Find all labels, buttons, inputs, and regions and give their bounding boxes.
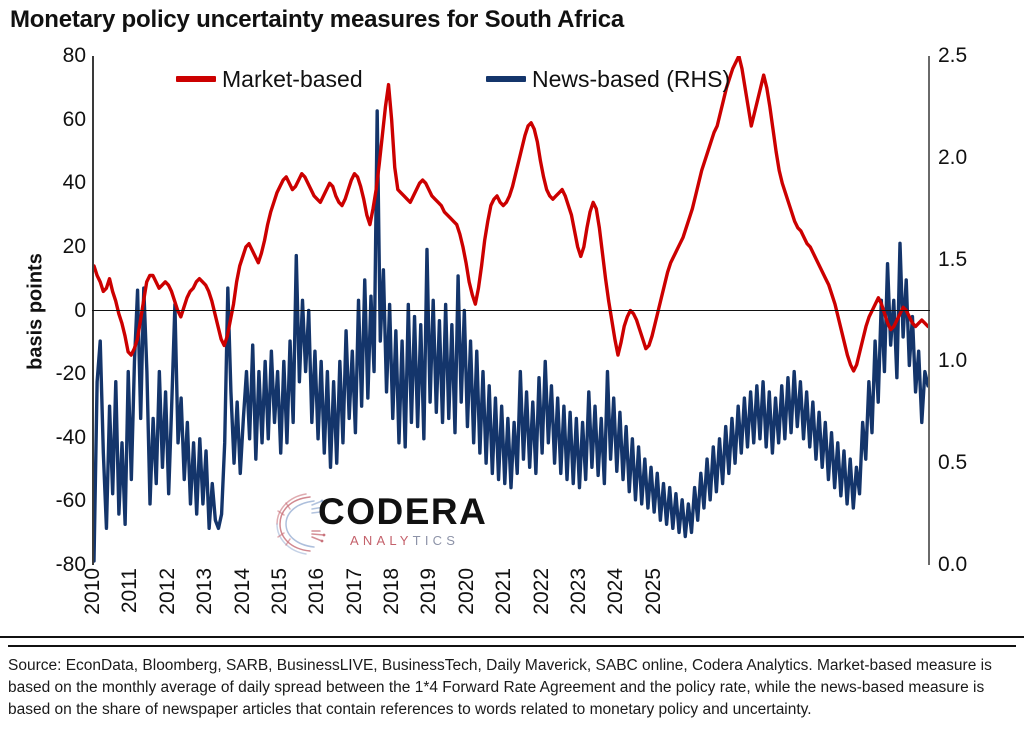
x-axis-tick: 2017: [343, 568, 367, 615]
codera-wordmark: CODERA: [318, 493, 487, 531]
x-axis-tick: 2022: [530, 568, 554, 615]
x-axis-tick: 2021: [492, 568, 516, 615]
legend-item-market-based: Market-based: [176, 62, 363, 96]
x-axis-tick: 2015: [268, 568, 292, 615]
codera-analytics-subtext: ANALYTICS: [350, 533, 459, 548]
legend-item-news-based: News-based (RHS): [486, 62, 730, 96]
x-axis-tick: 2025: [642, 568, 666, 615]
left-axis-tick: -40: [22, 426, 86, 450]
zero-reference-line: [92, 310, 930, 311]
right-axis: 2.52.01.51.00.50.0: [938, 0, 1008, 742]
right-axis-tick: 0.5: [938, 451, 1004, 475]
right-axis-tick: 0.0: [938, 553, 1004, 577]
legend-label-news-based: News-based (RHS): [532, 66, 730, 93]
x-axis-tick: 2018: [380, 568, 404, 615]
codera-analytics-part-a: ANALY: [350, 533, 413, 548]
chart-legend: Market-based News-based (RHS): [176, 62, 776, 96]
right-axis-tick: 2.0: [938, 146, 1004, 170]
left-axis-tick: 60: [22, 108, 86, 132]
x-axis-tick: 2012: [156, 568, 180, 615]
right-axis-tick: 1.5: [938, 248, 1004, 272]
x-axis-tick: 2019: [417, 568, 441, 615]
x-axis-tick: 2014: [231, 568, 255, 615]
page-title: Monetary policy uncertainty measures for…: [10, 6, 1010, 34]
x-axis-tick: 2016: [305, 568, 329, 615]
legend-swatch-market-based: [176, 76, 216, 82]
legend-swatch-news-based: [486, 76, 526, 82]
x-axis-tick: 2011: [118, 568, 142, 613]
left-axis-tick: -60: [22, 489, 86, 513]
source-footnote: Source: EconData, Bloomberg, SARB, Busin…: [8, 645, 1016, 721]
footnote-divider: [0, 636, 1024, 638]
x-axis-tick: 2010: [81, 568, 105, 615]
left-axis-tick: -80: [22, 553, 86, 577]
x-axis-tick: 2023: [567, 568, 591, 615]
right-axis-tick: 1.0: [938, 349, 1004, 373]
right-axis-tick: 2.5: [938, 44, 1004, 68]
left-axis-tick: 80: [22, 44, 86, 68]
x-axis-tick: 2020: [455, 568, 479, 615]
x-axis-tick: 2024: [604, 568, 628, 615]
codera-analytics-part-b: TICS: [413, 533, 459, 548]
left-axis: 806040200-20-40-60-80: [12, 0, 86, 742]
left-axis-label: basis points: [25, 232, 48, 392]
x-axis-tick: 2013: [193, 568, 217, 615]
left-axis-tick: 40: [22, 171, 86, 195]
legend-label-market-based: Market-based: [222, 66, 363, 93]
codera-logo-watermark: CODERA ANALYTICS: [276, 489, 476, 559]
market-based-series-path: [94, 56, 928, 371]
